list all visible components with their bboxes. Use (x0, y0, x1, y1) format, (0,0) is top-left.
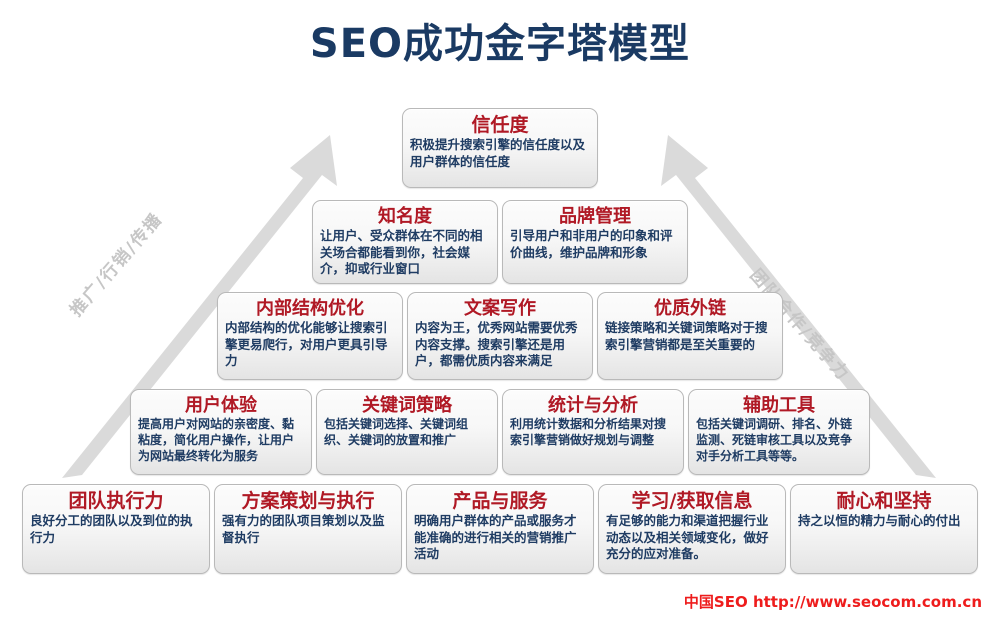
box-description: 强有力的团队项目策划以及监督执行 (222, 513, 394, 546)
pyramid-box-planning-execution[interactable]: 方案策划与执行 强有力的团队项目策划以及监督执行 (214, 484, 402, 574)
pyramid-box-trust[interactable]: 信任度 积极提升搜索引擎的信任度以及用户群体的信任度 (402, 108, 598, 188)
box-description: 包括关键词调研、排名、外链监测、死链审核工具以及竞争对手分析工具等等。 (696, 417, 862, 464)
box-description: 内部结构的优化能够让搜索引擎更易爬行，对用户更具引导力 (225, 320, 395, 370)
box-heading: 用户体验 (138, 395, 304, 416)
box-description: 提高用户对网站的亲密度、黏粘度，简化用户操作，让用户为网站最终转化为服务 (138, 417, 304, 464)
pyramid-box-learning-information[interactable]: 学习/获取信息 有足够的能力和渠道把握行业动态以及相关领域变化，做好充分的应对准… (598, 484, 786, 574)
pyramid-row-5: 团队执行力 良好分工的团队以及到位的执行力 方案策划与执行 强有力的团队项目策划… (0, 484, 1000, 574)
box-heading: 产品与服务 (414, 490, 586, 512)
pyramid-diagram-canvas: SEO成功金字塔模型 推广/行销/传播 团队合作/竞争力 信任度 积极提升搜索引… (0, 0, 1000, 620)
pyramid-box-quality-backlinks[interactable]: 优质外链 链接策略和关键词策略对于搜索引擎营销都是至关重要的 (597, 292, 783, 380)
box-description: 利用统计数据和分析结果对搜索引擎营销做好规划与调整 (510, 417, 676, 449)
pyramid-row-3: 内部结构优化 内部结构的优化能够让搜索引擎更易爬行，对用户更具引导力 文案写作 … (0, 292, 1000, 380)
box-heading: 统计与分析 (510, 395, 676, 416)
box-heading: 内部结构优化 (225, 298, 395, 319)
box-heading: 文案写作 (415, 298, 585, 319)
pyramid-box-supporting-tools[interactable]: 辅助工具 包括关键词调研、排名、外链监测、死链审核工具以及竞争对手分析工具等等。 (688, 389, 870, 475)
box-description: 包括关键词选择、关键词组织、关键词的放置和推广 (324, 417, 490, 449)
box-description: 持之以恒的精力与耐心的付出 (798, 513, 970, 530)
pyramid-row-4: 用户体验 提高用户对网站的亲密度、黏粘度，简化用户操作，让用户为网站最终转化为服… (0, 389, 1000, 475)
footer-credit: 中国SEO http://www.seocom.com.cn (684, 591, 982, 612)
box-description: 链接策略和关键词策略对于搜索引擎营销都是至关重要的 (605, 320, 775, 353)
box-description: 让用户、受众群体在不同的相关场合都能看到你，社会媒介，抑或行业窗口 (320, 228, 490, 278)
pyramid-box-internal-structure[interactable]: 内部结构优化 内部结构的优化能够让搜索引擎更易爬行，对用户更具引导力 (217, 292, 403, 380)
pyramid-box-patience-persistence[interactable]: 耐心和坚持 持之以恒的精力与耐心的付出 (790, 484, 978, 574)
box-description: 积极提升搜索引擎的信任度以及用户群体的信任度 (410, 137, 590, 170)
box-heading: 关键词策略 (324, 395, 490, 416)
box-description: 良好分工的团队以及到位的执行力 (30, 513, 202, 546)
pyramid-box-awareness[interactable]: 知名度 让用户、受众群体在不同的相关场合都能看到你，社会媒介，抑或行业窗口 (312, 200, 498, 284)
box-description: 引导用户和非用户的印象和评价曲线，维护品牌和形象 (510, 228, 680, 261)
pyramid-box-product-service[interactable]: 产品与服务 明确用户群体的产品或服务才能准确的进行相关的营销推广活动 (406, 484, 594, 574)
pyramid-box-statistics-analysis[interactable]: 统计与分析 利用统计数据和分析结果对搜索引擎营销做好规划与调整 (502, 389, 684, 475)
pyramid-row-2: 知名度 让用户、受众群体在不同的相关场合都能看到你，社会媒介，抑或行业窗口 品牌… (0, 200, 1000, 284)
box-heading: 知名度 (320, 206, 490, 227)
pyramid-box-keyword-strategy[interactable]: 关键词策略 包括关键词选择、关键词组织、关键词的放置和推广 (316, 389, 498, 475)
box-description: 明确用户群体的产品或服务才能准确的进行相关的营销推广活动 (414, 513, 586, 563)
box-description: 有足够的能力和渠道把握行业动态以及相关领域变化，做好充分的应对准备。 (606, 513, 778, 563)
pyramid-box-team-execution[interactable]: 团队执行力 良好分工的团队以及到位的执行力 (22, 484, 210, 574)
pyramid-box-brand-management[interactable]: 品牌管理 引导用户和非用户的印象和评价曲线，维护品牌和形象 (502, 200, 688, 284)
box-heading: 耐心和坚持 (798, 490, 970, 512)
box-heading: 团队执行力 (30, 490, 202, 512)
box-heading: 品牌管理 (510, 206, 680, 227)
box-heading: 优质外链 (605, 298, 775, 319)
pyramid-box-user-experience[interactable]: 用户体验 提高用户对网站的亲密度、黏粘度，简化用户操作，让用户为网站最终转化为服… (130, 389, 312, 475)
box-heading: 辅助工具 (696, 395, 862, 416)
box-heading: 信任度 (410, 114, 590, 136)
box-heading: 学习/获取信息 (606, 490, 778, 512)
pyramid-box-copywriting[interactable]: 文案写作 内容为王，优秀网站需要优秀内容支撑。搜索引擎还是用户，都需优质内容来满… (407, 292, 593, 380)
pyramid-row-1: 信任度 积极提升搜索引擎的信任度以及用户群体的信任度 (0, 108, 1000, 188)
box-description: 内容为王，优秀网站需要优秀内容支撑。搜索引擎还是用户，都需优质内容来满足 (415, 320, 585, 370)
box-heading: 方案策划与执行 (222, 490, 394, 512)
